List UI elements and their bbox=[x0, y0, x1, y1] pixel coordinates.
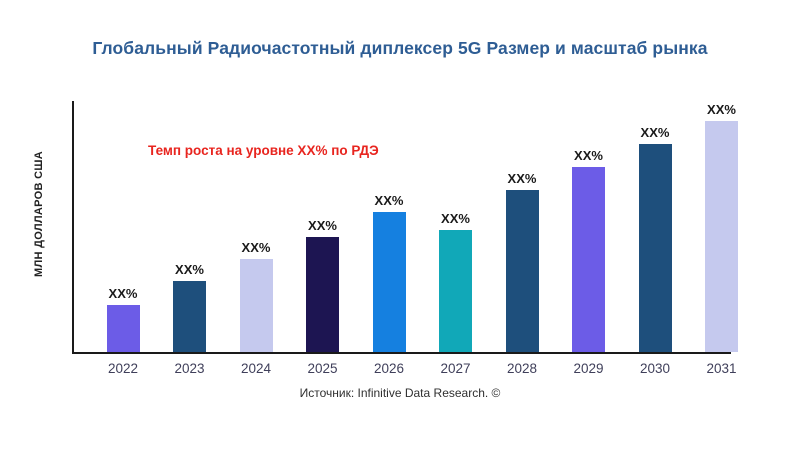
bar-2024: XX% bbox=[240, 259, 273, 352]
y-axis-line bbox=[72, 101, 74, 353]
x-tick-2026: 2026 bbox=[359, 361, 419, 376]
bar-value-label-2030: XX% bbox=[641, 125, 670, 140]
x-axis-line bbox=[72, 352, 731, 354]
bar-2030: XX% bbox=[639, 144, 672, 352]
bar-value-label-2031: XX% bbox=[707, 102, 736, 117]
bar-2025: XX% bbox=[306, 237, 339, 352]
bar-value-label-2028: XX% bbox=[508, 171, 537, 186]
x-tick-2022: 2022 bbox=[93, 361, 153, 376]
bar-2031: XX% bbox=[705, 121, 738, 352]
plot-area: Темп роста на уровне XX% по РДЭ XX%XX%XX… bbox=[0, 0, 800, 450]
bar-2029: XX% bbox=[572, 167, 605, 352]
x-tick-2029: 2029 bbox=[559, 361, 619, 376]
x-tick-2028: 2028 bbox=[492, 361, 552, 376]
bar-value-label-2022: XX% bbox=[109, 286, 138, 301]
x-tick-2024: 2024 bbox=[226, 361, 286, 376]
bar-2022: XX% bbox=[107, 305, 140, 352]
bar-value-label-2023: XX% bbox=[175, 262, 204, 277]
bar-value-label-2026: XX% bbox=[375, 193, 404, 208]
bar-value-label-2024: XX% bbox=[242, 240, 271, 255]
x-tick-2030: 2030 bbox=[625, 361, 685, 376]
x-tick-2025: 2025 bbox=[293, 361, 353, 376]
bar-2023: XX% bbox=[173, 281, 206, 352]
x-tick-2031: 2031 bbox=[692, 361, 752, 376]
x-tick-2023: 2023 bbox=[160, 361, 220, 376]
bar-value-label-2027: XX% bbox=[441, 211, 470, 226]
chart-canvas: Глобальный Радиочастотный диплексер 5G Р… bbox=[0, 0, 800, 450]
bar-2027: XX% bbox=[439, 230, 472, 352]
bar-value-label-2025: XX% bbox=[308, 218, 337, 233]
source-caption: Источник: Infinitive Data Research. © bbox=[0, 386, 800, 400]
bar-2028: XX% bbox=[506, 190, 539, 352]
growth-rate-annotation: Темп роста на уровне XX% по РДЭ bbox=[148, 143, 379, 158]
bar-2026: XX% bbox=[373, 212, 406, 352]
x-tick-2027: 2027 bbox=[426, 361, 486, 376]
bar-value-label-2029: XX% bbox=[574, 148, 603, 163]
